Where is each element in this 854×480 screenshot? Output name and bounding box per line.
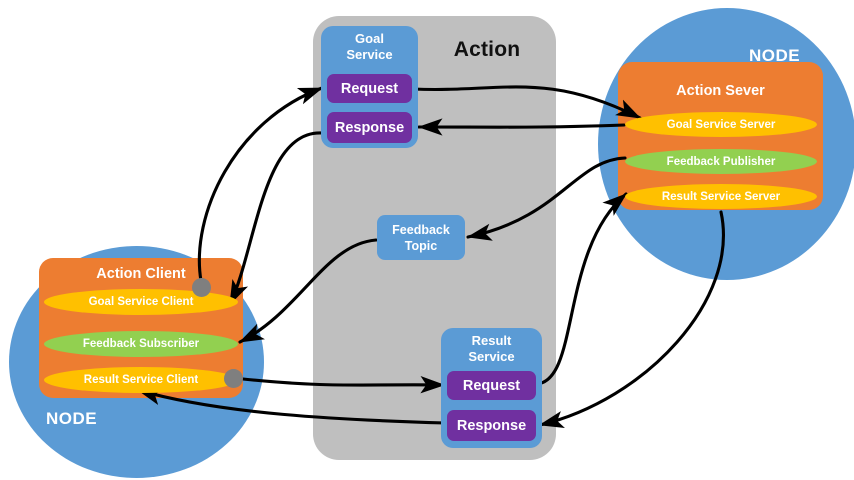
goal-service-title-line1: Goal [355, 31, 384, 47]
result-service-response[interactable]: Response [447, 410, 536, 441]
goal-service-title: Goal Service [321, 31, 418, 69]
arrow-goal-client-to-request [199, 88, 322, 281]
action-panel-title: Action [432, 35, 542, 65]
connector-dot-result-client [224, 369, 243, 388]
pill-result-service-server[interactable]: Result Service Server [625, 184, 817, 209]
result-service-title-line2: Service [468, 349, 514, 365]
feedback-topic-line1: Feedback [392, 222, 450, 238]
goal-service-request[interactable]: Request [327, 74, 412, 103]
goal-service-response[interactable]: Response [327, 112, 412, 143]
node-label-server: NODE [749, 44, 829, 68]
action-client-title: Action Client [39, 263, 243, 285]
result-service-title: Result Service [441, 333, 542, 371]
action-server-title: Action Sever [618, 80, 823, 102]
result-service-request[interactable]: Request [447, 371, 536, 400]
node-label-client: NODE [46, 407, 126, 431]
pill-result-service-client[interactable]: Result Service Client [44, 367, 238, 393]
goal-service-title-line2: Service [346, 47, 392, 63]
connector-dot-goal-client [192, 278, 211, 297]
feedback-topic-line2: Topic [405, 238, 437, 254]
feedback-topic[interactable]: Feedback Topic [377, 215, 465, 260]
arrow-goal-response-to-client [230, 133, 322, 304]
pill-feedback-subscriber[interactable]: Feedback Subscriber [44, 331, 238, 357]
diagram-canvas: Action [0, 0, 854, 480]
pill-goal-service-server[interactable]: Goal Service Server [625, 112, 817, 137]
result-service-title-line1: Result [472, 333, 512, 349]
pill-feedback-publisher[interactable]: Feedback Publisher [625, 149, 817, 174]
